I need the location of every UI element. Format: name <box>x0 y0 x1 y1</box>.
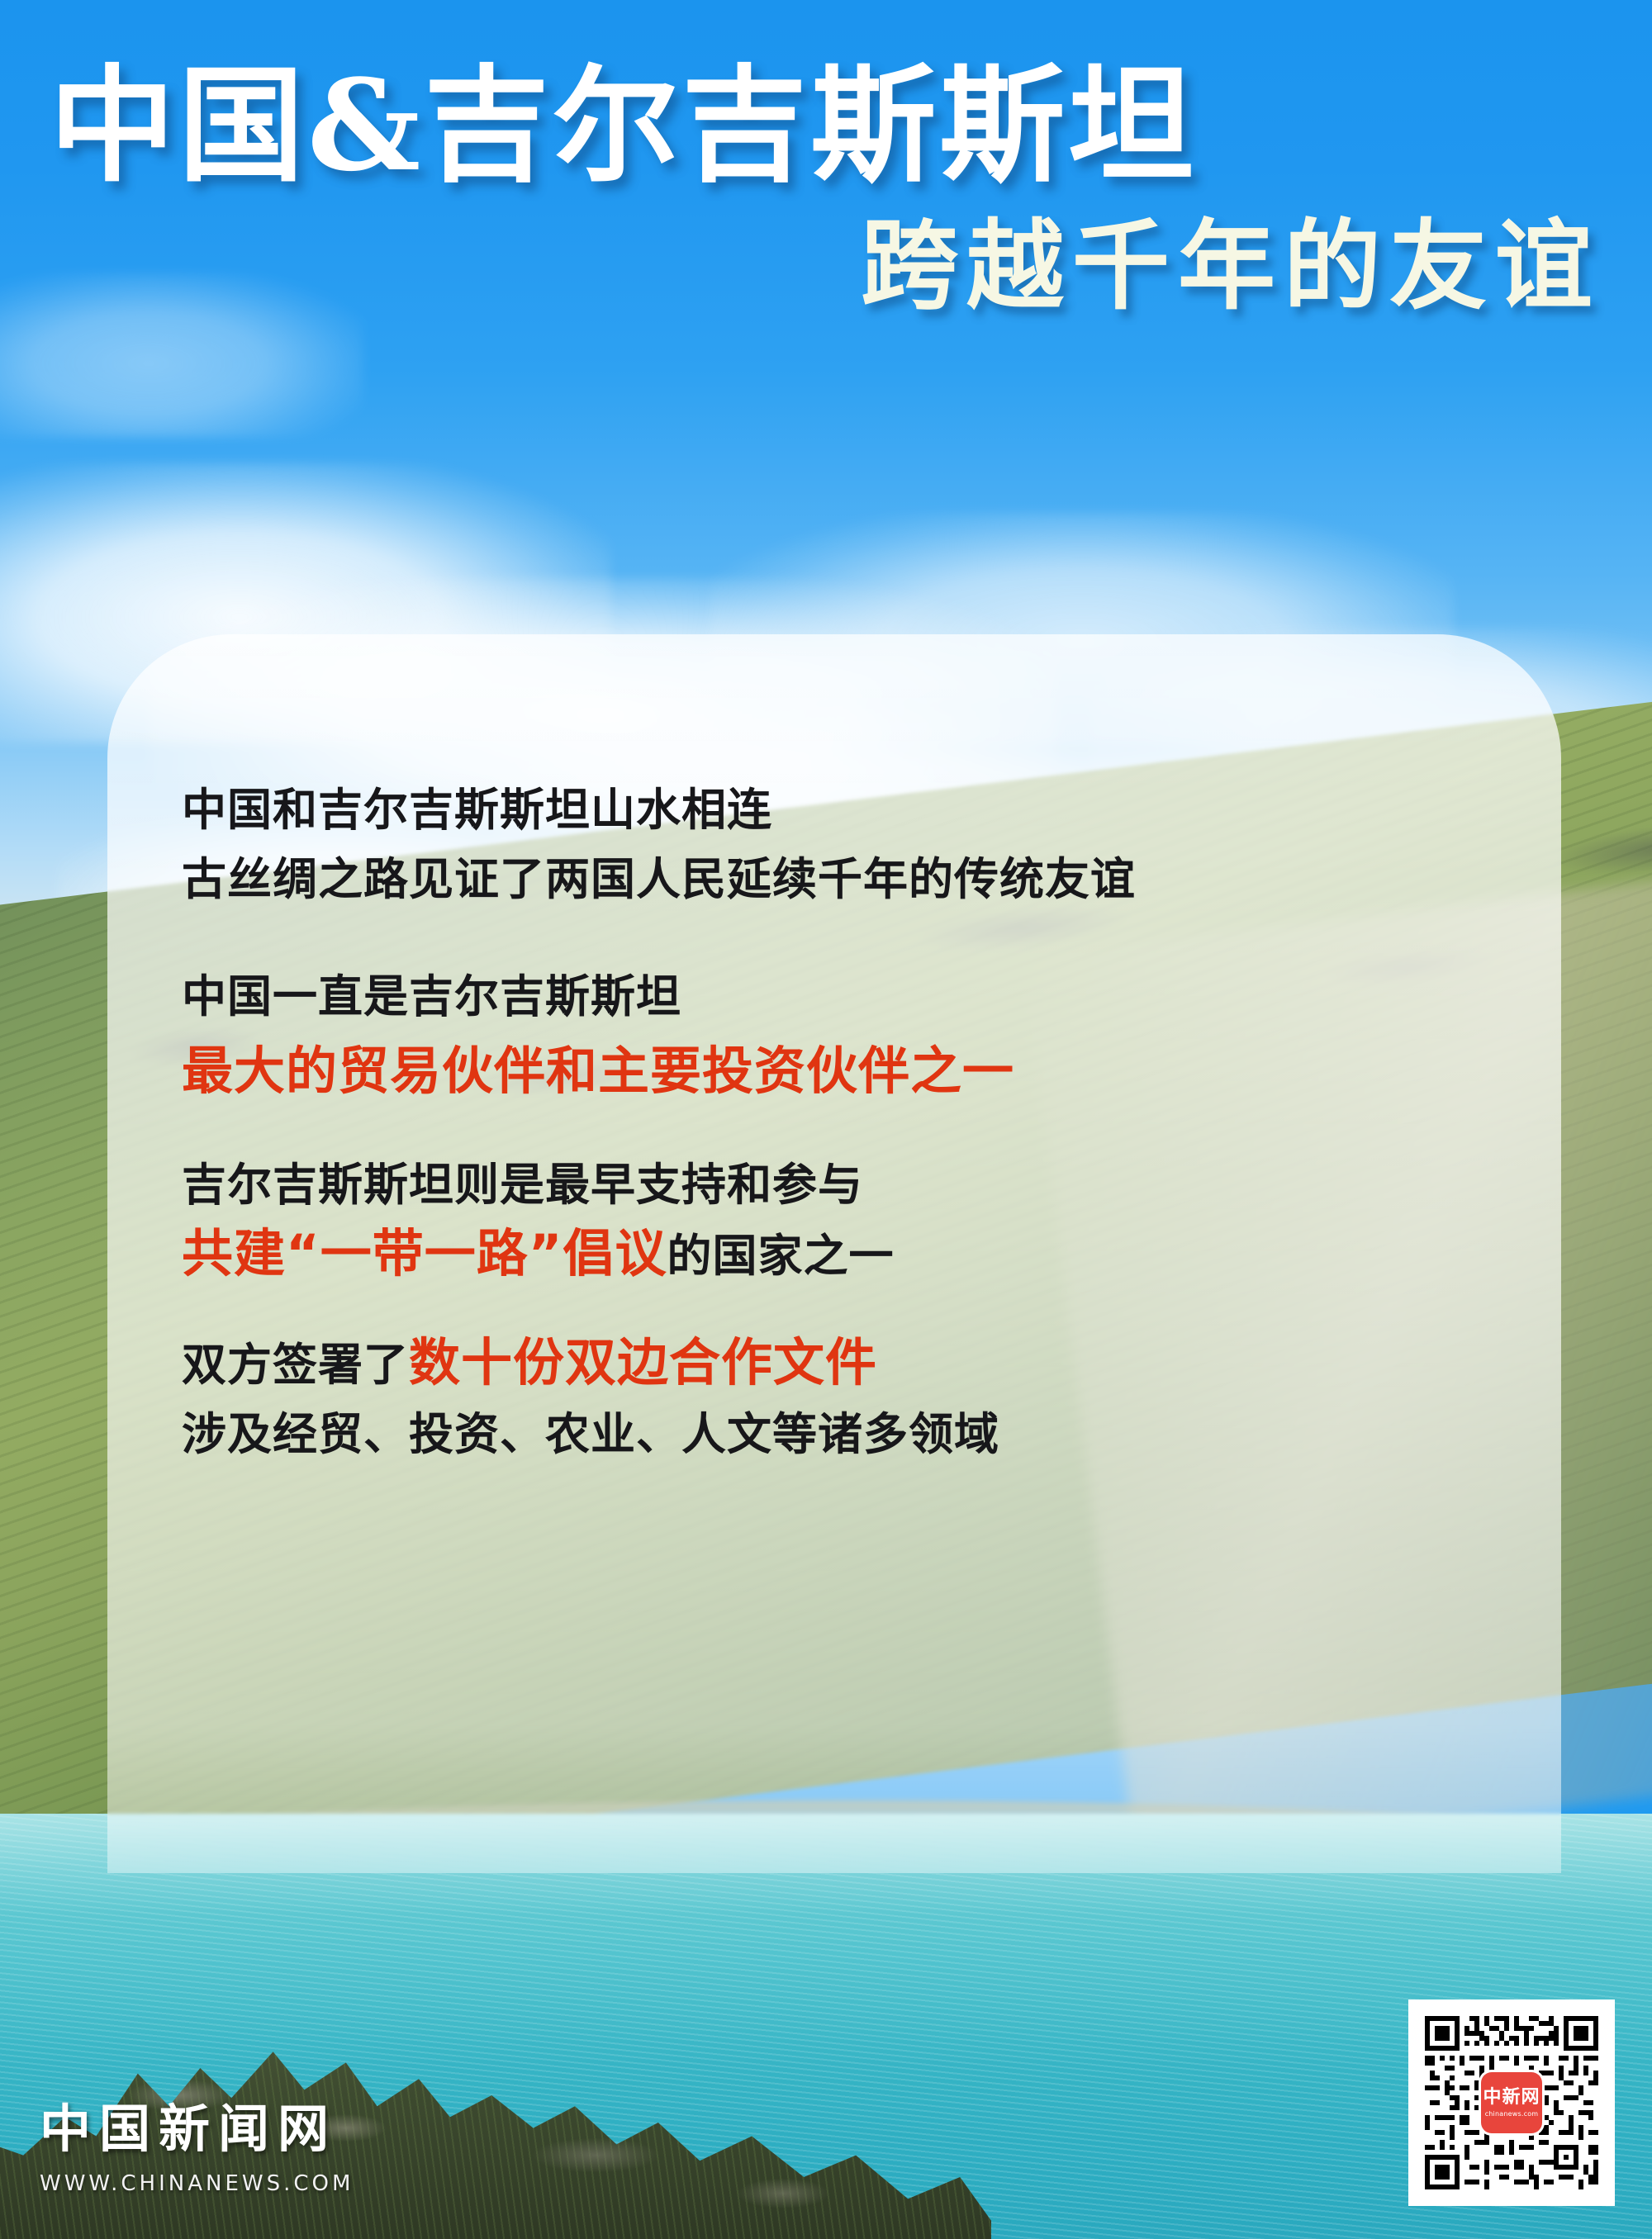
text-line: 吉尔吉斯斯坦则是最早支持和参与 <box>182 1150 1487 1219</box>
cloud-decoration <box>0 273 363 438</box>
paragraph-4: 双方签署了数十份双边合作文件 涉及经贸、投资、农业、人文等诸多领域 <box>182 1328 1487 1468</box>
paragraph-2: 中国一直是吉尔吉斯斯坦 最大的贸易伙伴和主要投资伙伴之一 <box>182 961 1487 1112</box>
spacer <box>182 1112 1487 1150</box>
normal-span: 双方签署了 <box>182 1338 409 1391</box>
paragraph-1: 中国和吉尔吉斯斯坦山水相连 古丝绸之路见证了两国人民延续千年的传统友谊 <box>182 775 1487 913</box>
normal-span: 的国家之一 <box>667 1229 895 1282</box>
qr-center-logo: 中新网 chinanews.com <box>1481 2072 1542 2133</box>
content-text-block: 中国和吉尔吉斯斯坦山水相连 古丝绸之路见证了两国人民延续千年的传统友谊 中国一直… <box>107 634 1561 1873</box>
spacer <box>182 913 1487 961</box>
text-line: 中国和吉尔吉斯斯坦山水相连 <box>182 775 1487 844</box>
qr-canvas: 中新网 chinanews.com <box>1420 2011 1603 2194</box>
qr-logo-subtext: chinanews.com <box>1485 2110 1539 2118</box>
text-line-mixed: 共建“一带一路”倡议的国家之一 <box>182 1219 1487 1290</box>
brand-block: 中国新闻网 WWW.CHINANEWS.COM <box>40 2087 354 2196</box>
text-line-highlight: 最大的贸易伙伴和主要投资伙伴之一 <box>182 1031 1487 1112</box>
brand-website-url: WWW.CHINANEWS.COM <box>40 2171 354 2196</box>
spacer <box>182 1290 1487 1328</box>
text-line: 古丝绸之路见证了两国人民延续千年的传统友谊 <box>182 844 1487 913</box>
poster-subtitle: 跨越千年的友谊 <box>861 213 1601 320</box>
text-line-mixed: 双方签署了数十份双边合作文件 <box>182 1328 1487 1399</box>
qr-code[interactable]: 中新网 chinanews.com <box>1408 1999 1615 2206</box>
highlight-span: 数十份双边合作文件 <box>409 1332 877 1392</box>
text-line: 中国一直是吉尔吉斯斯坦 <box>182 961 1487 1031</box>
qr-logo-text: 中新网 <box>1483 2088 1540 2106</box>
text-line: 涉及经贸、投资、农业、人文等诸多领域 <box>182 1399 1487 1468</box>
paragraph-3: 吉尔吉斯斯坦则是最早支持和参与 共建“一带一路”倡议的国家之一 <box>182 1150 1487 1290</box>
highlight-span: 共建“一带一路”倡议 <box>182 1223 667 1283</box>
brand-name-cn: 中国新闻网 <box>40 2087 354 2161</box>
poster-title: 中国&吉尔吉斯斯坦 <box>50 59 1602 192</box>
poster-root: 中国&吉尔吉斯斯坦 跨越千年的友谊 中国和吉尔吉斯斯坦山水相连 古丝绸之路见证了… <box>0 0 1652 2239</box>
